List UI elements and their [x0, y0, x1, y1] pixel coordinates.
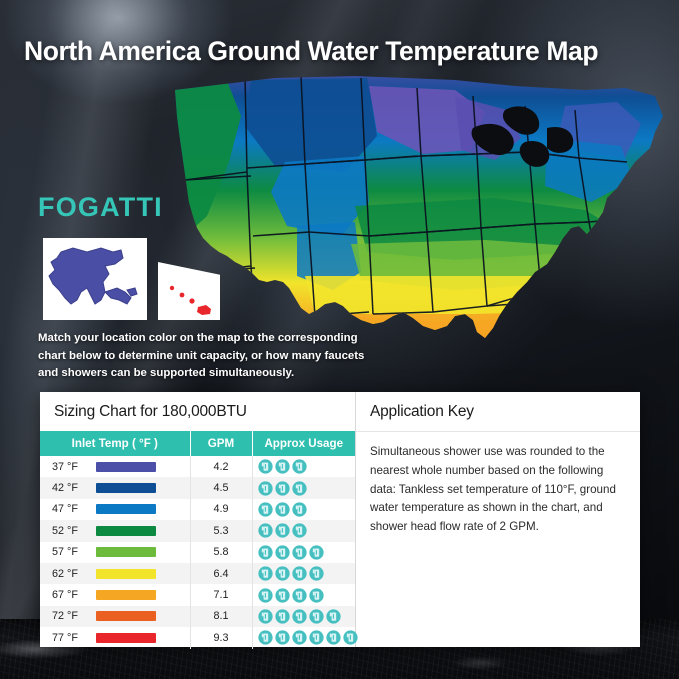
sizing-chart-table: Inlet Temp ( °F ) GPM Approx Usage 37 °F… [40, 431, 355, 649]
shower-fixture-icon [292, 566, 307, 581]
page-title: North America Ground Water Temperature M… [24, 36, 669, 67]
cell-approx-usage [252, 606, 355, 627]
table-row: 57 °F5.8 [40, 542, 355, 563]
shower-fixture-icon [258, 502, 273, 517]
fogatti-logo: FOGATTI [38, 192, 163, 223]
temp-label: 62 °F [52, 568, 88, 580]
temp-color-swatch [96, 547, 156, 557]
cell-inlet-temp: 57 °F [40, 542, 190, 563]
column-header-inlet-temp: Inlet Temp ( °F ) [40, 431, 190, 456]
cell-approx-usage [252, 542, 355, 563]
temp-label: 42 °F [52, 482, 88, 494]
table-row: 47 °F4.9 [40, 499, 355, 520]
cell-approx-usage [252, 477, 355, 498]
instruction-text: Match your location color on the map to … [38, 330, 368, 383]
cell-approx-usage [252, 584, 355, 605]
shower-fixture-icon [258, 566, 273, 581]
shower-fixture-icon [292, 588, 307, 603]
column-header-approx-usage: Approx Usage [252, 431, 355, 456]
temp-color-swatch [96, 462, 156, 472]
shower-fixture-icon [292, 630, 307, 645]
shower-fixture-icon [292, 459, 307, 474]
cell-gpm: 8.1 [190, 606, 252, 627]
cell-approx-usage [252, 499, 355, 520]
shower-fixture-icon [275, 545, 290, 560]
shower-fixture-icon [258, 481, 273, 496]
table-row: 42 °F4.5 [40, 477, 355, 498]
shower-fixture-icon [275, 481, 290, 496]
shower-fixture-icon [292, 609, 307, 624]
shower-fixture-icon [258, 588, 273, 603]
temp-color-swatch [96, 504, 156, 514]
column-header-gpm: GPM [190, 431, 252, 456]
shower-fixture-icon [275, 523, 290, 538]
shower-fixture-icon [258, 630, 273, 645]
shower-fixture-icon [275, 566, 290, 581]
cell-gpm: 4.5 [190, 477, 252, 498]
temp-color-swatch [96, 526, 156, 536]
temp-label: 52 °F [52, 525, 88, 537]
shower-fixture-icon [258, 609, 273, 624]
cell-gpm: 7.1 [190, 584, 252, 605]
temp-label: 37 °F [52, 461, 88, 473]
cell-inlet-temp: 47 °F [40, 499, 190, 520]
shower-fixture-icon [292, 502, 307, 517]
table-header-row: Inlet Temp ( °F ) GPM Approx Usage [40, 431, 355, 456]
shower-fixture-icon [326, 630, 341, 645]
shower-fixture-icon [309, 588, 324, 603]
shower-fixture-icon [309, 609, 324, 624]
temp-color-swatch [96, 611, 156, 621]
cell-gpm: 5.3 [190, 520, 252, 541]
temp-label: 72 °F [52, 610, 88, 622]
temp-label: 67 °F [52, 589, 88, 601]
cell-inlet-temp: 67 °F [40, 584, 190, 605]
temp-color-swatch [96, 590, 156, 600]
table-row: 52 °F5.3 [40, 520, 355, 541]
sizing-chart-title: Sizing Chart for 180,000BTU [40, 392, 355, 431]
shower-fixture-icon [258, 523, 273, 538]
shower-fixture-icon [275, 502, 290, 517]
temp-color-swatch [96, 483, 156, 493]
table-row: 77 °F9.3 [40, 627, 355, 648]
alaska-inset-map [43, 238, 147, 320]
cell-inlet-temp: 42 °F [40, 477, 190, 498]
shower-fixture-icon [326, 609, 341, 624]
application-key-body: Simultaneous shower use was rounded to t… [356, 432, 640, 537]
cell-gpm: 5.8 [190, 542, 252, 563]
cell-approx-usage [252, 456, 355, 477]
temp-color-swatch [96, 569, 156, 579]
cell-approx-usage [252, 520, 355, 541]
shower-fixture-icon [292, 523, 307, 538]
cell-inlet-temp: 72 °F [40, 606, 190, 627]
table-row: 67 °F7.1 [40, 584, 355, 605]
cell-approx-usage [252, 563, 355, 584]
shower-fixture-icon [258, 545, 273, 560]
cell-gpm: 4.2 [190, 456, 252, 477]
temp-label: 47 °F [52, 503, 88, 515]
table-row: 62 °F6.4 [40, 563, 355, 584]
shower-fixture-icon [309, 566, 324, 581]
shower-fixture-icon [292, 545, 307, 560]
shower-fixture-icon [275, 588, 290, 603]
shower-fixture-icon [275, 609, 290, 624]
cell-gpm: 4.9 [190, 499, 252, 520]
cell-approx-usage [252, 627, 355, 648]
sizing-chart-panel: Sizing Chart for 180,000BTU Inlet Temp (… [40, 392, 356, 647]
application-key-title: Application Key [356, 392, 640, 432]
cell-inlet-temp: 37 °F [40, 456, 190, 477]
cell-inlet-temp: 52 °F [40, 520, 190, 541]
application-key-panel: Application Key Simultaneous shower use … [356, 392, 640, 647]
shower-fixture-icon [258, 459, 273, 474]
cell-inlet-temp: 62 °F [40, 563, 190, 584]
shower-fixture-icon [292, 481, 307, 496]
cell-gpm: 9.3 [190, 627, 252, 648]
temp-label: 57 °F [52, 546, 88, 558]
us-temperature-map [155, 76, 675, 366]
info-panels: Sizing Chart for 180,000BTU Inlet Temp (… [40, 392, 640, 647]
shower-fixture-icon [309, 545, 324, 560]
shower-fixture-icon [275, 630, 290, 645]
shower-fixture-icon [309, 630, 324, 645]
table-row: 37 °F4.2 [40, 456, 355, 477]
shower-fixture-icon [275, 459, 290, 474]
temp-color-swatch [96, 633, 156, 643]
temp-label: 77 °F [52, 632, 88, 644]
cell-inlet-temp: 77 °F [40, 627, 190, 648]
cell-gpm: 6.4 [190, 563, 252, 584]
table-row: 72 °F8.1 [40, 606, 355, 627]
